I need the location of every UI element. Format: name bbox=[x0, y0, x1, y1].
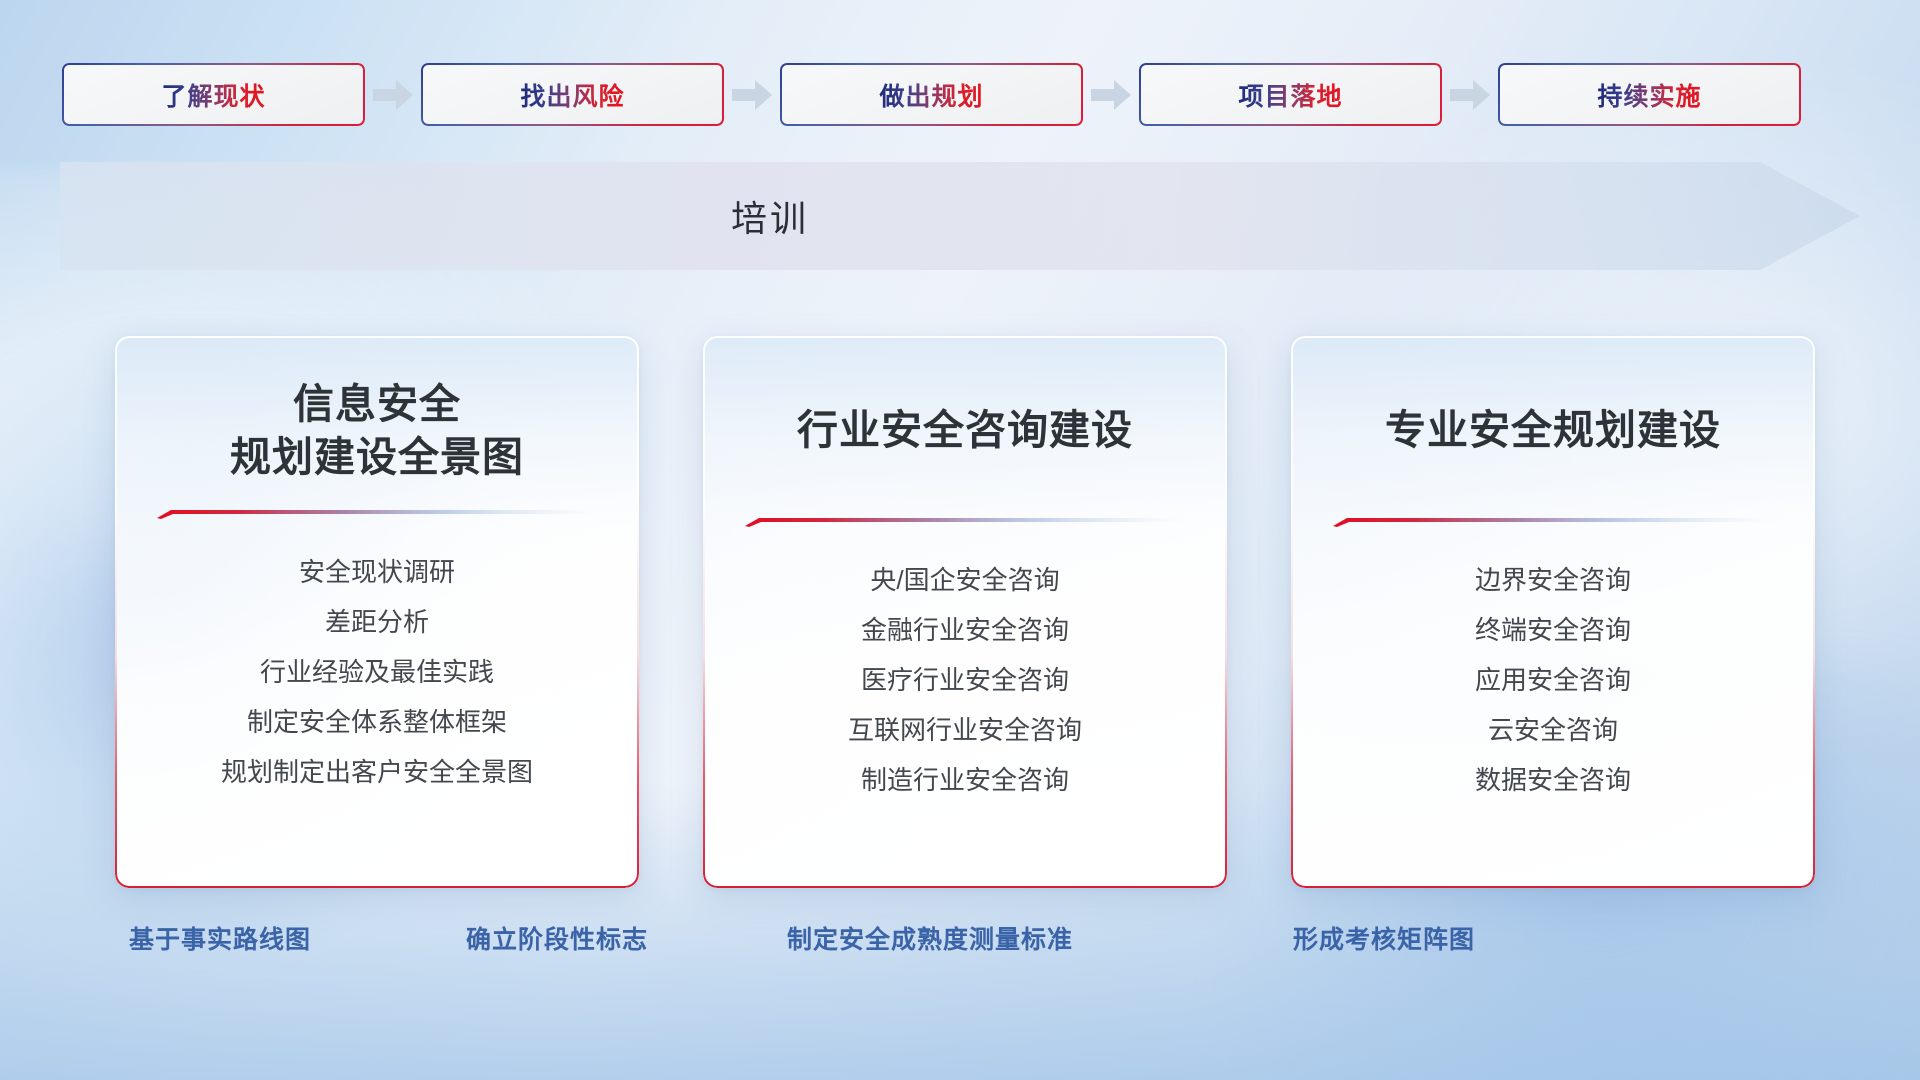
card-title-line-1: 信息安全 bbox=[230, 378, 524, 431]
process-step-2[interactable]: 做出规划 bbox=[780, 63, 1083, 126]
card-title: 专业安全规划建设 bbox=[1385, 336, 1721, 457]
card-information-security-blueprint[interactable]: 信息安全 规划建设全景图 bbox=[115, 336, 639, 888]
list-item: 终端安全咨询 bbox=[1291, 605, 1815, 655]
cards-row: 信息安全 规划建设全景图 bbox=[115, 336, 1815, 888]
list-item: 应用安全咨询 bbox=[1291, 655, 1815, 705]
training-banner: 培训 bbox=[60, 162, 1860, 270]
process-step-4[interactable]: 持续实施 bbox=[1498, 63, 1801, 126]
process-step-label: 找出风险 bbox=[520, 77, 624, 113]
process-step-label: 了解现状 bbox=[161, 77, 265, 113]
card-title-line-1: 行业安全咨询建设 bbox=[797, 404, 1133, 457]
list-item: 数据安全咨询 bbox=[1291, 755, 1815, 805]
list-item: 医疗行业安全咨询 bbox=[703, 655, 1227, 705]
bottom-label-1: 确立阶段性标志 bbox=[466, 920, 648, 956]
card-item-list: 边界安全咨询 终端安全咨询 应用安全咨询 云安全咨询 数据安全咨询 bbox=[1291, 555, 1815, 805]
arrow-right-icon bbox=[724, 63, 780, 126]
process-step-0[interactable]: 了解现状 bbox=[62, 63, 365, 126]
process-step-1[interactable]: 找出风险 bbox=[421, 63, 724, 126]
card-item-list: 安全现状调研 差距分析 行业经验及最佳实践 制定安全体系整体框架 规划制定出客户… bbox=[115, 547, 639, 797]
list-item: 规划制定出客户安全全景图 bbox=[115, 747, 639, 797]
card-title: 行业安全咨询建设 bbox=[797, 336, 1133, 457]
list-item: 云安全咨询 bbox=[1291, 705, 1815, 755]
training-banner-label: 培训 bbox=[60, 162, 1480, 270]
list-item: 安全现状调研 bbox=[115, 547, 639, 597]
card-professional-security-planning[interactable]: 专业安全规划建设 bbox=[1291, 336, 1815, 888]
card-title-line-2: 规划建设全景图 bbox=[230, 431, 524, 484]
card-divider bbox=[745, 515, 1185, 527]
bottom-label-2: 制定安全成熟度测量标准 bbox=[787, 920, 1073, 956]
list-item: 制定安全体系整体框架 bbox=[115, 697, 639, 747]
bottom-labels-row: 基于事实路线图 确立阶段性标志 制定安全成熟度测量标准 形成考核矩阵图 bbox=[0, 920, 1920, 966]
arrow-right-icon bbox=[1442, 63, 1498, 126]
process-step-label: 项目落地 bbox=[1238, 77, 1342, 113]
list-item: 边界安全咨询 bbox=[1291, 555, 1815, 605]
list-item: 行业经验及最佳实践 bbox=[115, 647, 639, 697]
list-item: 制造行业安全咨询 bbox=[703, 755, 1227, 805]
bottom-label-3: 形成考核矩阵图 bbox=[1293, 920, 1475, 956]
arrow-right-icon bbox=[365, 63, 421, 126]
process-step-label: 做出规划 bbox=[879, 77, 983, 113]
list-item: 央/国企安全咨询 bbox=[703, 555, 1227, 605]
process-steps-row: 了解现状 找出风险 做出规划 项目落地 持续实施 bbox=[62, 63, 1858, 126]
list-item: 金融行业安全咨询 bbox=[703, 605, 1227, 655]
card-industry-security-consulting[interactable]: 行业安全咨询建设 bbox=[703, 336, 1227, 888]
card-divider bbox=[1333, 515, 1773, 527]
card-title: 信息安全 规划建设全景图 bbox=[230, 336, 524, 485]
card-divider bbox=[157, 507, 597, 519]
process-step-3[interactable]: 项目落地 bbox=[1139, 63, 1442, 126]
process-step-label: 持续实施 bbox=[1597, 77, 1701, 113]
bottom-label-0: 基于事实路线图 bbox=[129, 920, 311, 956]
list-item: 差距分析 bbox=[115, 597, 639, 647]
card-item-list: 央/国企安全咨询 金融行业安全咨询 医疗行业安全咨询 互联网行业安全咨询 制造行… bbox=[703, 555, 1227, 805]
list-item: 互联网行业安全咨询 bbox=[703, 705, 1227, 755]
card-title-line-1: 专业安全规划建设 bbox=[1385, 404, 1721, 457]
arrow-right-icon bbox=[1083, 63, 1139, 126]
